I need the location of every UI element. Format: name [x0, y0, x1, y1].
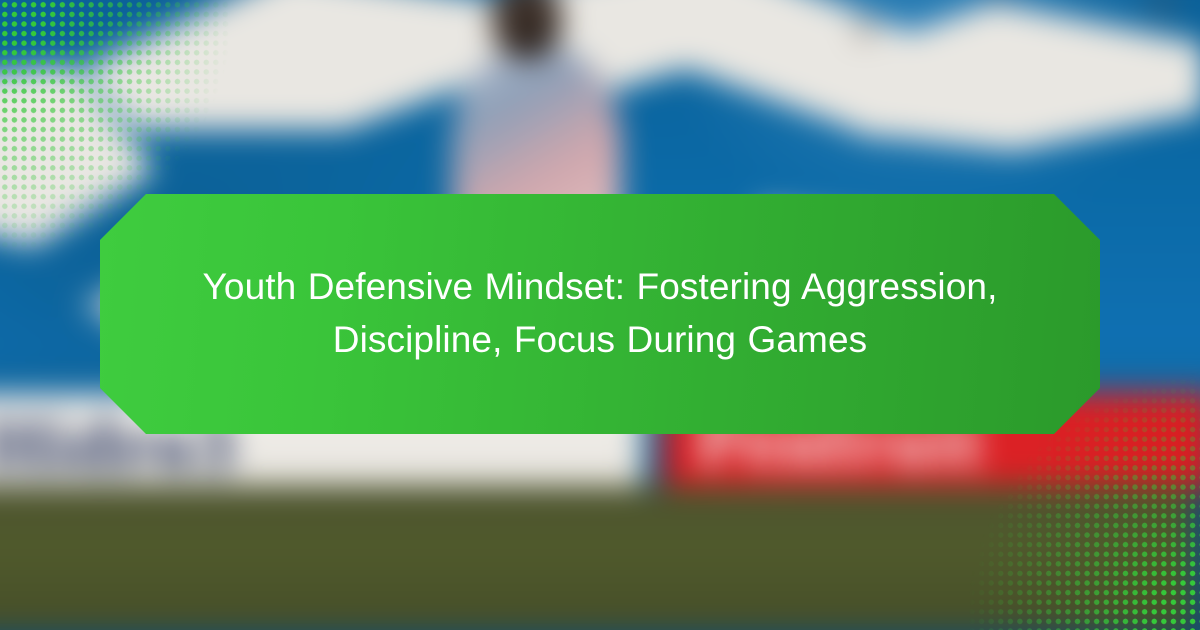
title-plaque: Youth Defensive Mindset: Fostering Aggre…: [100, 194, 1100, 434]
social-share-card: Hidro3 Penfruit Youth Defensive Mindset:…: [0, 0, 1200, 630]
crowd-blur: [801, 0, 1200, 87]
pitch-grass: [0, 486, 1194, 630]
page-title: Youth Defensive Mindset: Fostering Aggre…: [180, 261, 1020, 366]
